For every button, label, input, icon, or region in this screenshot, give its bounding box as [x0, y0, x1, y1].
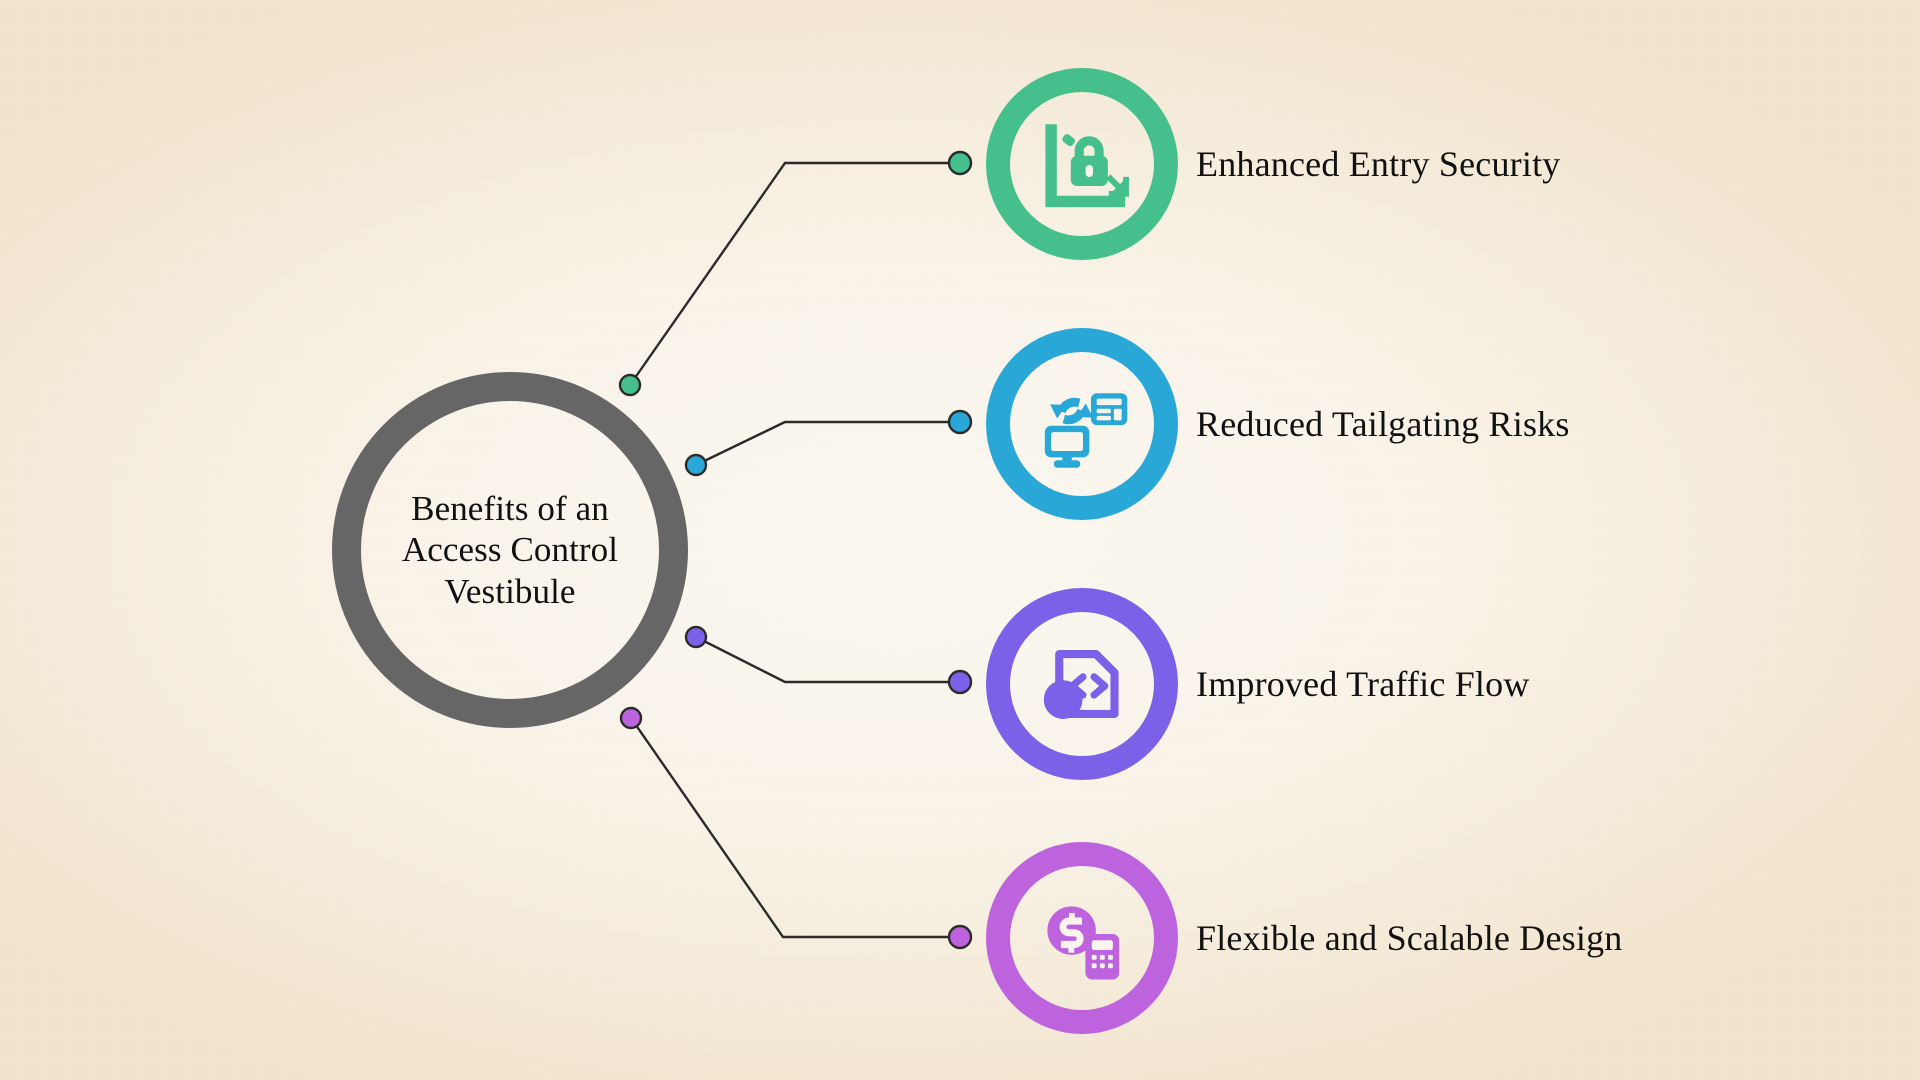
connector-node-start-3: [686, 627, 706, 647]
center-title-line-1: Benefits of an: [385, 488, 635, 530]
center-node-title: Benefits of an Access Control Vestibule: [385, 488, 635, 613]
code-document-verified-icon: [1030, 632, 1134, 736]
branch-label-4: Flexible and Scalable Design: [1196, 917, 1623, 959]
connector-node-end-2: [949, 411, 971, 433]
branch-label-3: Improved Traffic Flow: [1196, 663, 1530, 705]
connector-node-start-4: [621, 708, 641, 728]
dollar-coin-calculator-icon: [1030, 886, 1134, 990]
monitor-sync-dashboard-icon: [1030, 372, 1134, 476]
connector-layer: [0, 0, 1920, 1080]
connector-line-3: [696, 637, 960, 682]
branch-icon-badge-4[interactable]: [986, 842, 1178, 1034]
connector-node-start-2: [686, 455, 706, 475]
branch-label-1: Enhanced Entry Security: [1196, 143, 1560, 185]
connector-line-4: [631, 718, 960, 937]
connector-node-end-3: [949, 671, 971, 693]
connector-node-end-4: [949, 926, 971, 948]
center-title-line-3: Vestibule: [385, 571, 635, 613]
connector-node-start-1: [620, 375, 640, 395]
connector-line-1: [630, 163, 960, 385]
connector-line-2: [696, 422, 960, 465]
branch-icon-badge-2[interactable]: [986, 328, 1178, 520]
branch-enhanced-entry-security[interactable]: Enhanced Entry Security: [986, 68, 1560, 260]
branch-improved-traffic-flow[interactable]: Improved Traffic Flow: [986, 588, 1530, 780]
lock-chart-decline-icon: [1030, 112, 1134, 216]
connector-node-end-1: [949, 152, 971, 174]
branch-reduced-tailgating-risks[interactable]: Reduced Tailgating Risks: [986, 328, 1570, 520]
branch-icon-badge-3[interactable]: [986, 588, 1178, 780]
center-title-line-2: Access Control: [385, 529, 635, 571]
branch-label-2: Reduced Tailgating Risks: [1196, 403, 1570, 445]
branch-flexible-scalable-design[interactable]: Flexible and Scalable Design: [986, 842, 1623, 1034]
center-node: Benefits of an Access Control Vestibule: [332, 372, 688, 728]
branch-icon-badge-1[interactable]: [986, 68, 1178, 260]
infographic-canvas: Benefits of an Access Control Vestibule …: [0, 0, 1920, 1080]
